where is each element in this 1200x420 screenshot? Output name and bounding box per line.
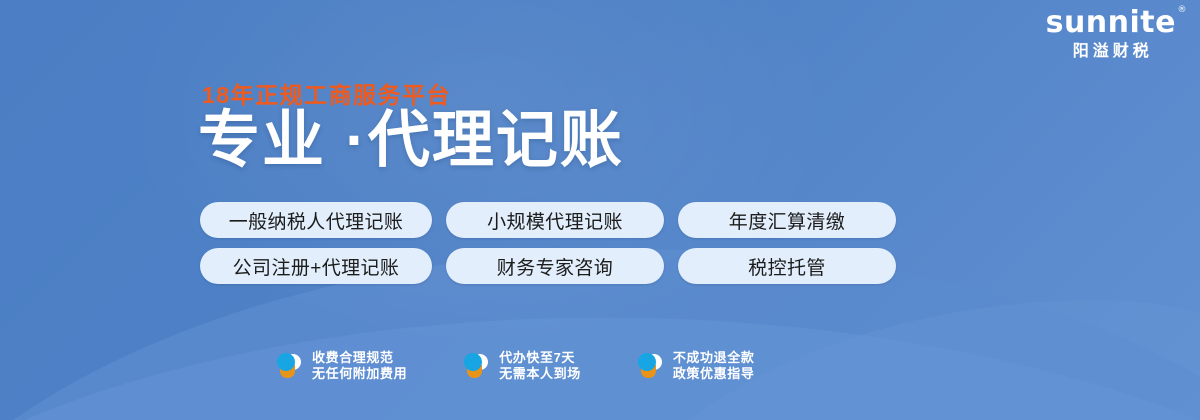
badge-icon-circle (277, 353, 295, 371)
service-pill[interactable]: 一般纳税人代理记账 (200, 202, 432, 238)
feature-item: 不成功退全款 政策优惠指导 (637, 350, 755, 382)
feature-item: 代办快至7天 无需本人到场 (463, 350, 581, 382)
feature-text: 不成功退全款 政策优惠指导 (673, 350, 755, 382)
background-glow (120, 0, 840, 350)
hero-headline: 专业 ·代理记账 (198, 108, 624, 173)
feature-list: 收费合理规范 无任何附加费用 代办快至7天 无需本人到场 不成功退全款 (276, 350, 754, 382)
service-pill[interactable]: 财务专家咨询 (446, 248, 664, 284)
badge-icon (637, 351, 663, 381)
badge-icon (276, 351, 302, 381)
brand-logo[interactable]: sunnite ® 阳溢财税 (1046, 8, 1176, 60)
feature-line-1: 不成功退全款 (673, 350, 755, 365)
feature-line-1: 代办快至7天 (499, 350, 575, 365)
feature-line-1: 收费合理规范 (312, 350, 394, 365)
service-pill[interactable]: 公司注册+代理记账 (200, 248, 432, 284)
feature-item: 收费合理规范 无任何附加费用 (276, 350, 407, 382)
service-pill[interactable]: 税控托管 (678, 248, 896, 284)
badge-icon (463, 351, 489, 381)
service-pill[interactable]: 年度汇算清缴 (678, 202, 896, 238)
feature-text: 代办快至7天 无需本人到场 (499, 350, 581, 382)
feature-text: 收费合理规范 无任何附加费用 (312, 350, 407, 382)
feature-line-2: 无需本人到场 (499, 366, 581, 381)
promo-banner: sunnite ® 阳溢财税 18年正规工商服务平台 专业 ·代理记账 一般纳税… (0, 0, 1200, 420)
service-pill-grid: 一般纳税人代理记账 小规模代理记账 年度汇算清缴 公司注册+代理记账 财务专家咨… (200, 202, 896, 284)
brand-logo-wordmark: sunnite ® (1046, 8, 1176, 38)
brand-logo-chinese-name: 阳溢财税 (1046, 44, 1176, 60)
hero-kicker: 18年正规工商服务平台 (202, 76, 451, 110)
feature-line-2: 无任何附加费用 (312, 366, 407, 381)
feature-line-2: 政策优惠指导 (673, 366, 755, 381)
registered-trademark-icon: ® (1178, 6, 1188, 15)
service-pill[interactable]: 小规模代理记账 (446, 202, 664, 238)
badge-icon-circle (638, 353, 656, 371)
